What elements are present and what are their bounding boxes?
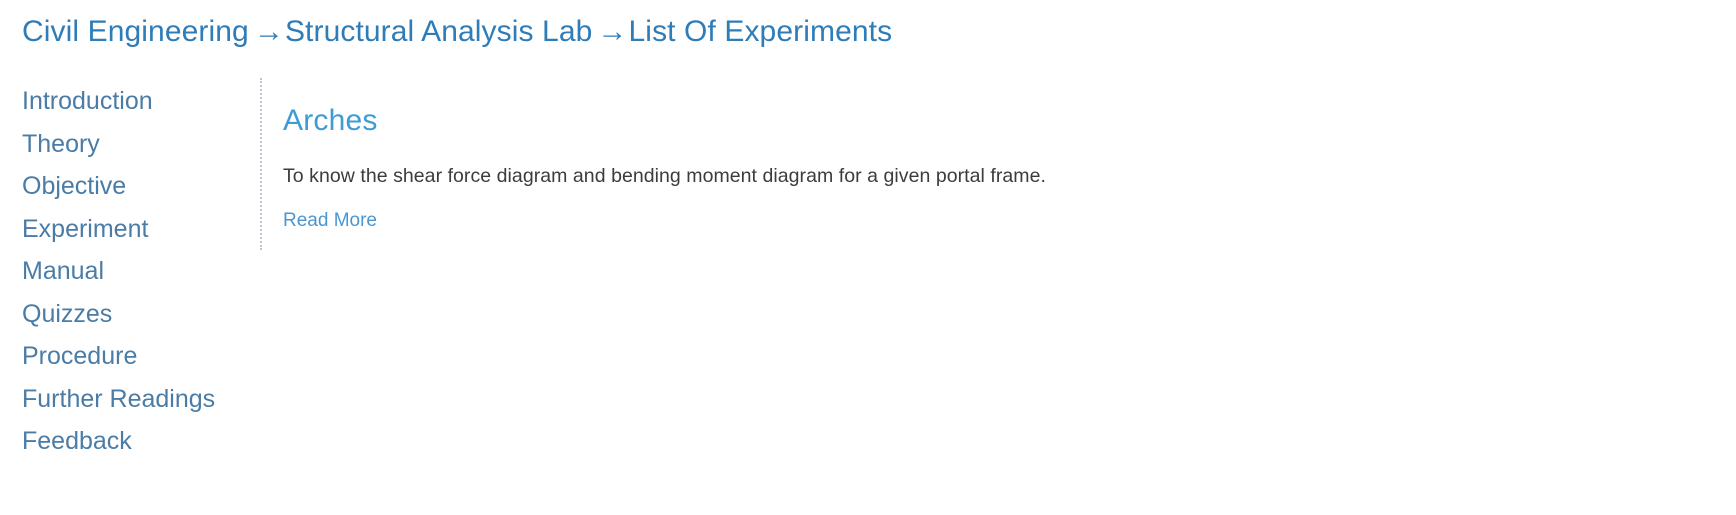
sidebar-item-quizzes[interactable]: Quizzes [22,293,252,336]
sidebar-item-introduction[interactable]: Introduction [22,80,252,123]
sidebar-item-feedback[interactable]: Feedback [22,420,252,463]
experiment-description: To know the shear force diagram and bend… [283,162,1712,190]
sidebar-nav: Introduction Theory Objective Experiment… [22,80,252,463]
sidebar-item-further-readings[interactable]: Further Readings [22,378,252,421]
experiment-title: Arches [283,100,1712,142]
breadcrumb-separator-icon: → [592,15,628,48]
sidebar-item-theory[interactable]: Theory [22,123,252,166]
sidebar-item-procedure[interactable]: Procedure [22,335,252,378]
breadcrumb-item-structural-analysis-lab[interactable]: Structural Analysis Lab [285,15,592,48]
sidebar-item-objective[interactable]: Objective [22,165,252,208]
breadcrumb-item-list-of-experiments[interactable]: List Of Experiments [629,15,893,48]
sidebar-item-manual[interactable]: Manual [22,250,252,293]
content-wrapper: Introduction Theory Objective Experiment… [0,72,1736,515]
main-content: Arches To know the shear force diagram a… [283,72,1712,234]
read-more-link[interactable]: Read More [283,208,377,234]
breadcrumb: Civil Engineering→Structural Analysis La… [22,10,892,54]
breadcrumb-item-civil-engineering[interactable]: Civil Engineering [22,15,249,48]
vertical-dotted-divider [260,78,262,250]
sidebar-item-experiment[interactable]: Experiment [22,208,252,251]
breadcrumb-separator-icon: → [249,15,285,48]
